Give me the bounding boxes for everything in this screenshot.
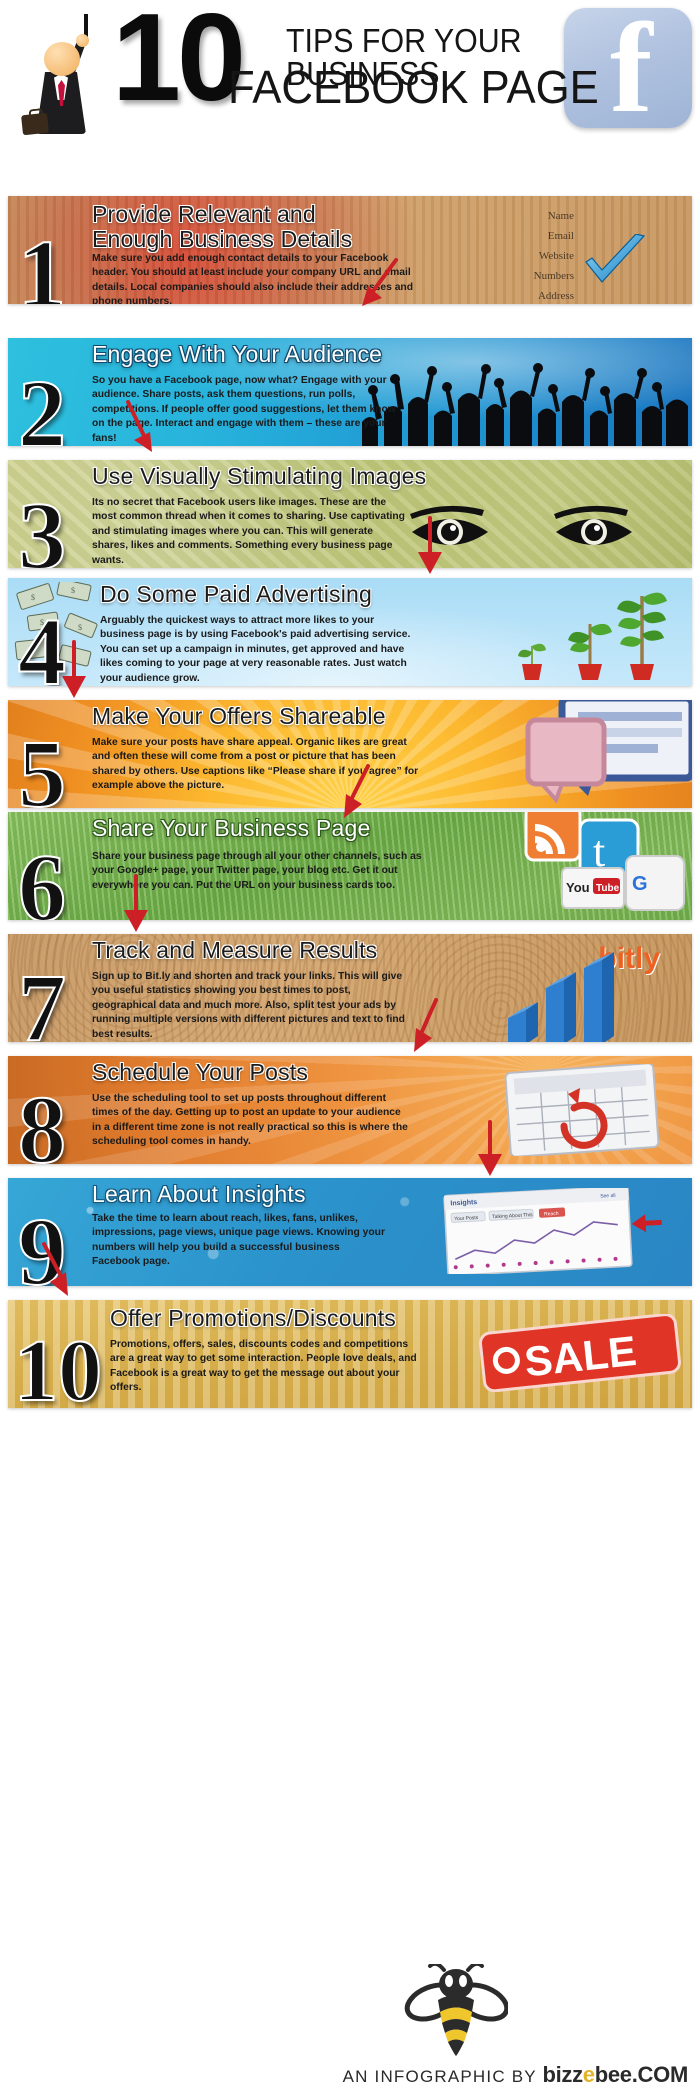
tip-card-2: 2 Engage With Your Audience So you have … — [8, 338, 692, 446]
tip-body-10: Promotions, offers, sales, discounts cod… — [110, 1338, 422, 1396]
tip-title-5: Make Your Offers Shareable — [92, 704, 386, 729]
header: f 10 TIPS FOR YOUR BUSINESS FACEBOOK PAG… — [0, 0, 700, 148]
social-network-icons: t G You Tube — [498, 812, 688, 916]
arrow-down-8 — [472, 1120, 508, 1180]
header-line-2: FACEBOOK PAGE — [228, 64, 599, 110]
businessman-pointing-up-icon — [14, 18, 110, 140]
form-field-website: Website — [534, 246, 574, 266]
tip-title-3: Use Visually Stimulating Images — [92, 464, 426, 489]
tip-card-3: 3 Use Visually Stimulating Images Its no… — [8, 460, 692, 568]
eyes-icon — [406, 496, 686, 566]
sale-tag-icon: SALE — [472, 1314, 682, 1392]
svg-text:Reach: Reach — [544, 1211, 559, 1218]
bee-logo-icon — [404, 1964, 508, 2060]
tip-body-9: Take the time to learn about reach, like… — [92, 1212, 388, 1270]
blue-check-tick-icon — [584, 234, 646, 288]
bar-chart-icon — [494, 948, 684, 1042]
tip-title-9: Learn About Insights — [92, 1182, 306, 1207]
arrow-down-4 — [56, 640, 92, 702]
tip-body-4: Arguably the quickest ways to attract mo… — [100, 614, 420, 686]
tip-number-10: 10 — [14, 1324, 102, 1408]
tip-number-6: 6 — [18, 840, 66, 920]
tip-body-8: Use the scheduling tool to set up posts … — [92, 1092, 412, 1150]
tip-number-7: 7 — [18, 960, 66, 1042]
arrow-down-5 — [336, 764, 376, 822]
form-field-email: Email — [534, 226, 574, 246]
tip-title-4: Do Some Paid Advertising — [100, 582, 372, 607]
svg-text:Tube: Tube — [596, 883, 620, 894]
svg-text:$: $ — [71, 586, 75, 595]
tip-number-3: 3 — [18, 488, 66, 568]
tip-card-9: 9 Learn About Insights Take the time to … — [8, 1178, 692, 1286]
footer-credit: AN INFOGRAPHIC BY bizzebee.COM — [343, 2062, 688, 2088]
svg-text:Your Posts: Your Posts — [454, 1215, 479, 1222]
tip-card-8: 8 Schedule Your Posts Use the scheduling… — [8, 1056, 692, 1164]
tip-title-7: Track and Measure Results — [92, 938, 377, 963]
arrow-down-6 — [118, 874, 154, 936]
infographic-page: f 10 TIPS FOR YOUR BUSINESS FACEBOOK PAG… — [0, 0, 700, 2100]
google-plus-icon: G — [632, 873, 648, 895]
header-number: 10 — [112, 0, 242, 120]
tip-card-1: 1 Provide Relevant and Enough Business D… — [8, 196, 692, 304]
tip-body-7: Sign up to Bit.ly and shorten and track … — [92, 970, 414, 1042]
tip-title-1: Provide Relevant and Enough Business Det… — [92, 202, 352, 252]
brand-suffix: .COM — [632, 2062, 688, 2087]
footer-credit-prefix: AN INFOGRAPHIC BY — [343, 2067, 537, 2086]
tip-title-10: Offer Promotions/Discounts — [110, 1306, 396, 1331]
crowd-silhouette-icon — [362, 360, 692, 446]
tip-number-1: 1 — [18, 226, 66, 304]
tip-number-8: 8 — [18, 1082, 66, 1164]
brand-accent-letter: e — [583, 2062, 595, 2087]
arrow-down-9 — [36, 1242, 76, 1300]
brand-logo-text: bizzebee.COM — [542, 2062, 688, 2087]
tip-title-2: Engage With Your Audience — [92, 342, 382, 367]
briefcase-icon — [21, 113, 49, 136]
growing-plants-icon — [498, 584, 678, 682]
tip-number-5: 5 — [18, 726, 66, 808]
tip-card-4: 4 Do Some Paid Advertising Arguably the … — [8, 578, 692, 686]
footer: AN INFOGRAPHIC BY bizzebee.COM — [0, 1964, 700, 2094]
insights-see-all-link: See all — [600, 1193, 616, 1200]
calendar-with-refresh-icon — [502, 1064, 662, 1156]
insights-panel-title: Insights — [450, 1199, 477, 1207]
brand-part-1: bizz — [542, 2062, 582, 2087]
svg-text:You: You — [566, 880, 590, 895]
form-field-name: Name — [534, 206, 574, 226]
facebook-post-card-icon — [522, 700, 692, 808]
arrow-down-2 — [120, 400, 160, 456]
arrow-down-1 — [358, 258, 400, 310]
tip-title-6: Share Your Business Page — [92, 816, 370, 841]
brand-part-2: bee — [595, 2062, 632, 2087]
svg-text:$: $ — [78, 623, 82, 632]
mascot-hand — [76, 34, 89, 47]
form-field-list: Name Email Website Numbers Address — [534, 206, 574, 304]
tip-card-10: 10 Offer Promotions/Discounts Promotions… — [8, 1300, 692, 1408]
tip-number-2: 2 — [18, 366, 66, 446]
insights-dashboard-icon: Insights See all Your Posts Talking Abou… — [440, 1188, 670, 1274]
form-field-numbers: Numbers — [534, 266, 574, 286]
form-field-address: Address — [534, 286, 574, 304]
tip-body-3: Its no secret that Facebook users like i… — [92, 496, 410, 568]
arrow-down-7 — [406, 998, 446, 1056]
mascot-head — [44, 42, 80, 76]
tip-card-7: 7 Track and Measure Results Sign up to B… — [8, 934, 692, 1042]
tip-title-8: Schedule Your Posts — [92, 1060, 308, 1085]
tip-card-6: 6 Share Your Business Page Share your bu… — [8, 812, 692, 920]
arrow-down-3 — [412, 516, 448, 578]
